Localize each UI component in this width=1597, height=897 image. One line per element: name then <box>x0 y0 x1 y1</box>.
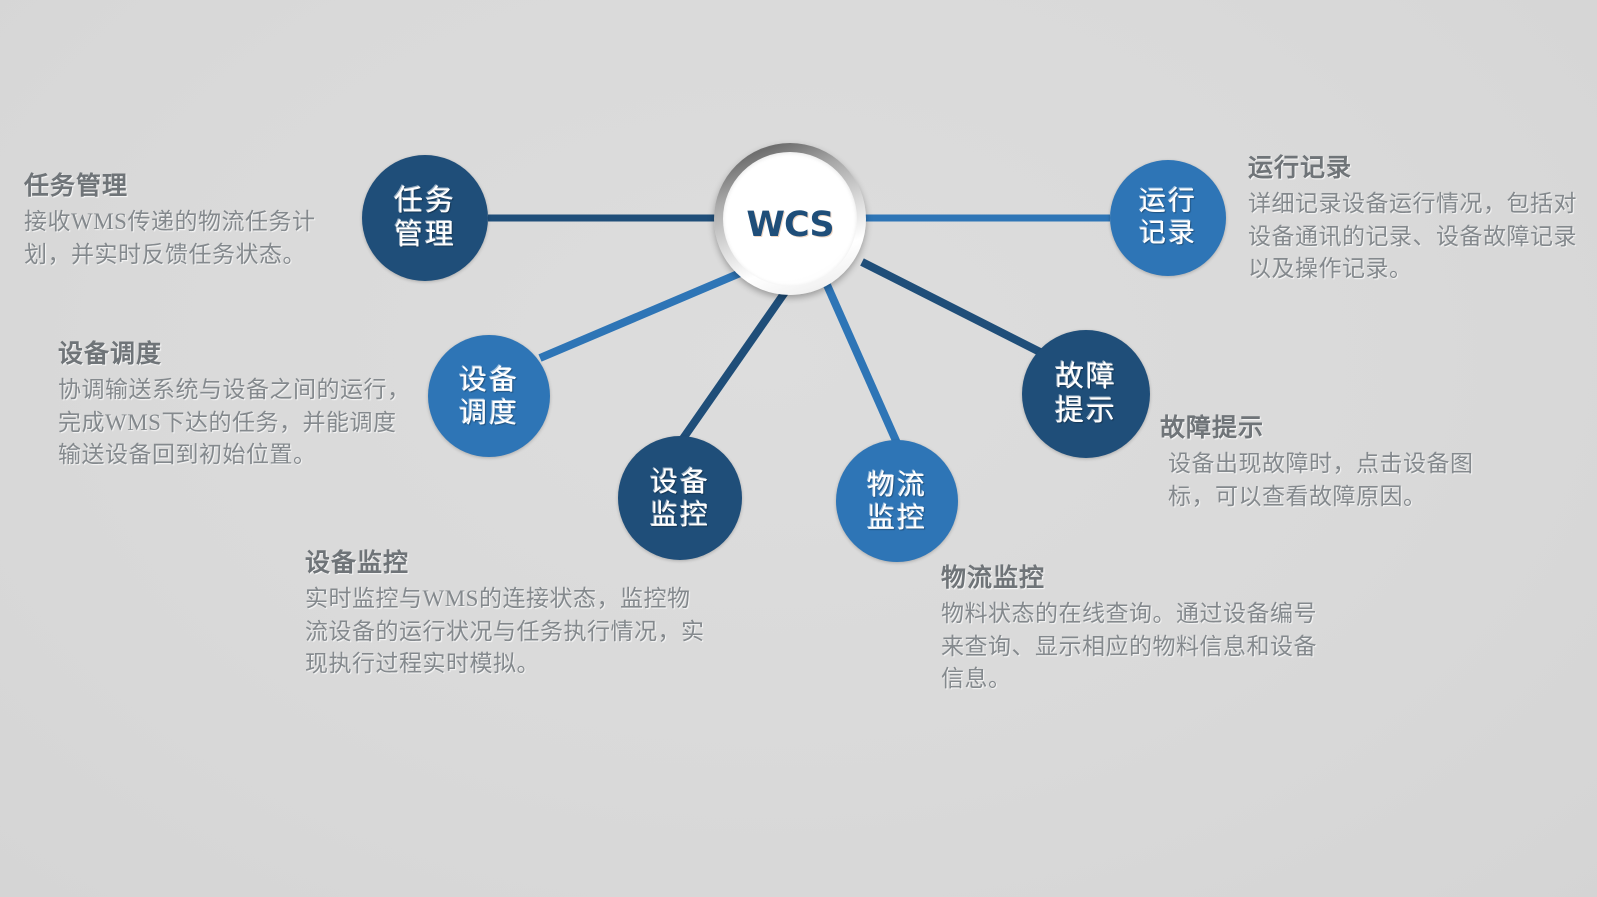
node-task-management-line2: 管理 <box>394 218 456 252</box>
caption-logistics-monitoring-body: 物料状态的在线查询。通过设备编号来查询、显示相应的物料信息和设备信息。 <box>941 598 1331 696</box>
caption-equipment-scheduling: 设备调度 协调输送系统与设备之间的运行，完成WMS下达的任务，并能调度输送设备回… <box>58 334 413 472</box>
node-equipment-scheduling[interactable]: 设备 调度 <box>428 335 550 457</box>
node-logistics-monitoring[interactable]: 物流 监控 <box>836 440 958 562</box>
caption-equipment-scheduling-body: 协调输送系统与设备之间的运行，完成WMS下达的任务，并能调度输送设备回到初始位置… <box>58 374 413 472</box>
caption-fault-alert-title: 故障提示 <box>1160 408 1490 444</box>
link-hub-logistics-monitoring <box>827 285 897 443</box>
caption-equipment-monitoring-body: 实时监控与WMS的连接状态，监控物流设备的运行状况与任务执行情况，实现执行过程实… <box>305 583 713 681</box>
caption-operation-record-title: 运行记录 <box>1248 148 1588 184</box>
node-logistics-monitoring-line2: 监控 <box>867 501 927 534</box>
caption-task-management-title: 任务管理 <box>24 166 354 202</box>
caption-operation-record-body: 详细记录设备运行情况，包括对设备通讯的记录、设备故障记录以及操作记录。 <box>1248 188 1588 286</box>
caption-task-management-body: 接收WMS传递的物流任务计划，并实时反馈任务状态。 <box>24 206 354 271</box>
node-operation-record-line2: 记录 <box>1139 218 1197 250</box>
node-logistics-monitoring-line1: 物流 <box>867 468 927 501</box>
hub-wcs[interactable]: wcs <box>714 143 866 295</box>
node-fault-alert-line1: 故障 <box>1055 360 1117 394</box>
diagram-canvas: wcs 任务 管理 运行 记录 设备 调度 设备 监控 物流 监控 故障 提示 … <box>0 0 1597 897</box>
node-equipment-monitoring-line2: 监控 <box>650 498 710 531</box>
caption-fault-alert: 故障提示 设备出现故障时，点击设备图标，可以查看故障原因。 <box>1160 408 1490 513</box>
node-equipment-scheduling-line1: 设备 <box>459 363 519 396</box>
link-hub-fault-alert <box>862 262 1040 352</box>
node-equipment-monitoring-line1: 设备 <box>650 465 710 498</box>
caption-equipment-monitoring: 设备监控 实时监控与WMS的连接状态，监控物流设备的运行状况与任务执行情况，实现… <box>305 543 713 681</box>
link-hub-equipment-scheduling <box>540 268 752 358</box>
node-fault-alert-line2: 提示 <box>1055 394 1117 428</box>
hub-inner-disc: wcs <box>723 152 857 286</box>
node-task-management[interactable]: 任务 管理 <box>362 155 488 281</box>
node-operation-record[interactable]: 运行 记录 <box>1110 160 1226 276</box>
node-fault-alert[interactable]: 故障 提示 <box>1022 330 1150 458</box>
node-task-management-line1: 任务 <box>394 184 456 218</box>
node-operation-record-line1: 运行 <box>1139 186 1197 218</box>
caption-fault-alert-body: 设备出现故障时，点击设备图标，可以查看故障原因。 <box>1160 448 1490 513</box>
caption-logistics-monitoring: 物流监控 物料状态的在线查询。通过设备编号来查询、显示相应的物料信息和设备信息。 <box>941 558 1331 696</box>
caption-logistics-monitoring-title: 物流监控 <box>941 558 1331 594</box>
hub-label: wcs <box>746 190 833 248</box>
caption-equipment-scheduling-title: 设备调度 <box>58 334 413 370</box>
node-equipment-monitoring[interactable]: 设备 监控 <box>618 436 742 560</box>
caption-task-management: 任务管理 接收WMS传递的物流任务计划，并实时反馈任务状态。 <box>24 166 354 271</box>
node-equipment-scheduling-line2: 调度 <box>459 396 519 429</box>
caption-operation-record: 运行记录 详细记录设备运行情况，包括对设备通讯的记录、设备故障记录以及操作记录。 <box>1248 148 1588 286</box>
link-hub-equipment-monitoring <box>682 285 790 440</box>
